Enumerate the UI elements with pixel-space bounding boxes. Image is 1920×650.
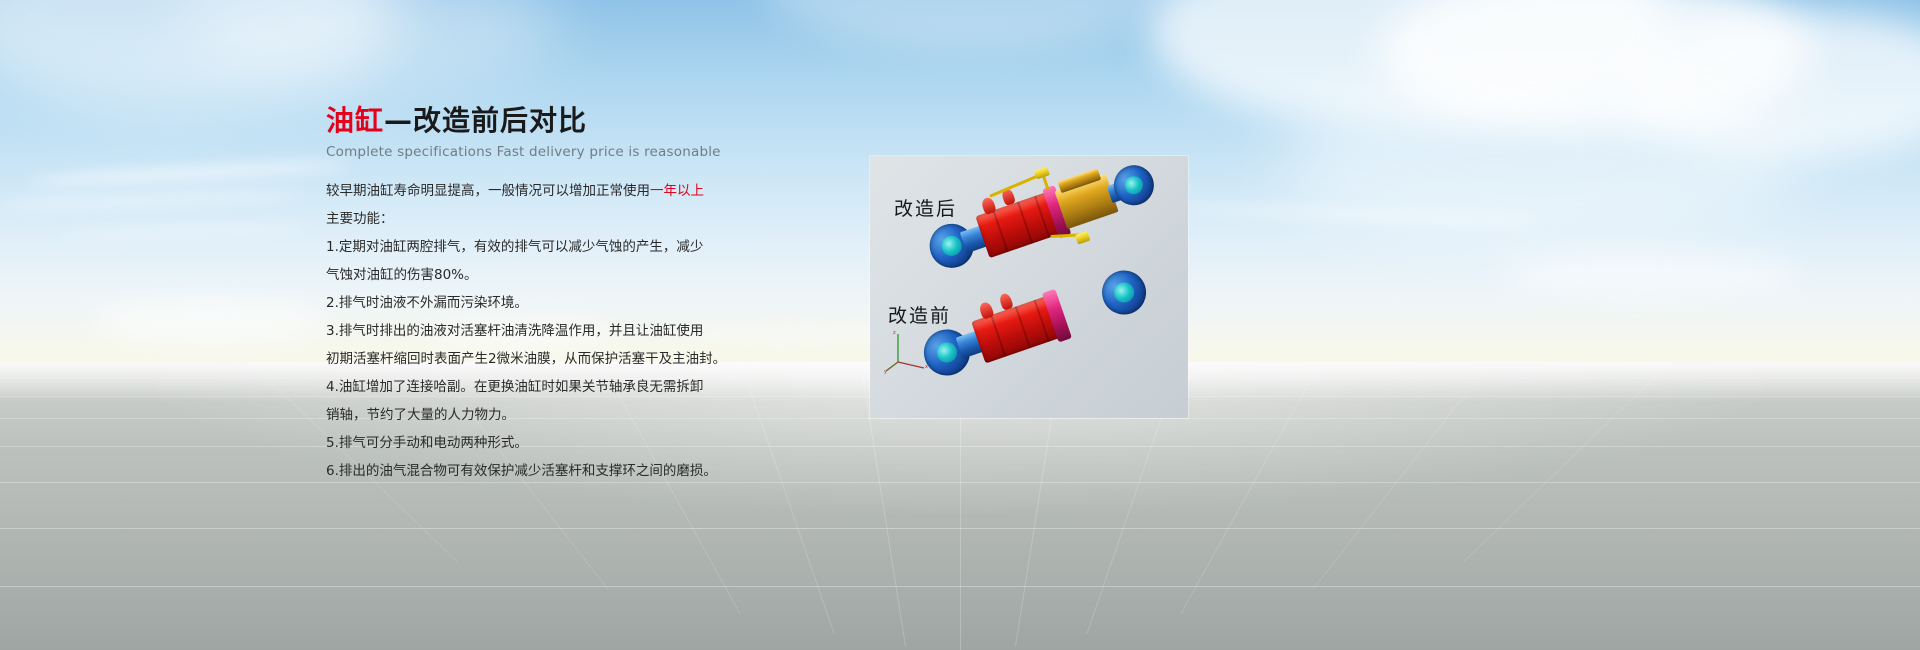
feature-line: 主要功能： — [326, 207, 756, 232]
feature-text-block: 较早期油缸寿命明显提高，一般情况可以增加正常使用一年以上 主要功能： 1.定期对… — [326, 179, 756, 484]
feature-line: 初期活塞杆缩回时表面产生2微米油膜，从而保护活塞干及主油封。 — [326, 347, 756, 372]
page-title-rest: —改造前后对比 — [384, 104, 587, 137]
banner-content: 油缸—改造前后对比 Complete specifications Fast d… — [326, 104, 756, 487]
vent-valve — [1034, 166, 1050, 179]
page-subtitle: Complete specifications Fast delivery pr… — [326, 144, 756, 160]
barrel-rib — [1017, 202, 1033, 244]
cloud-streak — [60, 224, 310, 240]
cloud-shape — [95, 300, 325, 342]
barrel-rib — [990, 315, 1006, 357]
product-comparison-panel: 改造后 改造前 z x y — [870, 156, 1188, 418]
cloud-streak — [30, 160, 350, 187]
page-title-highlight: 油缸 — [326, 104, 384, 137]
svg-text:y: y — [884, 369, 887, 374]
svg-text:z: z — [893, 330, 896, 336]
feature-line: 较早期油缸寿命明显提高，一般情况可以增加正常使用一年以上 — [326, 179, 756, 204]
feature-line: 5.排气可分手动和电动两种形式。 — [326, 431, 756, 456]
feature-line: 4.油缸增加了连接哈副。在更换油缸时如果关节轴承良无需拆卸 — [326, 375, 756, 400]
cylinder-bore — [1111, 280, 1136, 305]
cloud-streak — [0, 191, 300, 209]
feature-line: 2.排气时油液不外漏而污染环境。 — [326, 291, 756, 316]
feature-line: 3.排气时排出的油液对活塞杆油清洗降温作用，并且让油缸使用 — [326, 319, 756, 344]
cloud-shape — [760, 0, 1180, 50]
feature-line: 6.排出的油气混合物可有效保护减少活塞杆和支撑环之间的磨损。 — [326, 459, 756, 484]
barrel-rib — [992, 210, 1008, 252]
cylinder-eye-right — [1096, 265, 1152, 321]
cloud-shape — [1500, 250, 1800, 298]
feature-line: 1.定期对油缸两腔排气，有效的排气可以减少气蚀的产生，减少 — [326, 235, 756, 260]
page-title: 油缸—改造前后对比 — [326, 104, 756, 138]
barrel-rib — [1015, 306, 1031, 348]
feature-line-text: 较早期油缸寿命明显提高，一般情况可以增加正常使用 — [326, 183, 650, 199]
banner-stage: 油缸—改造前后对比 Complete specifications Fast d… — [0, 0, 1920, 650]
cylinder-bore — [1122, 174, 1145, 197]
feature-line-highlight: 一年以上 — [650, 183, 704, 199]
cylinder-eye-right — [1108, 160, 1159, 211]
feature-line: 气蚀对油缸的伤害80%。 — [326, 263, 756, 288]
cylinder-bore — [934, 340, 959, 365]
feature-line: 销轴，节约了大量的人力物力。 — [326, 403, 756, 428]
